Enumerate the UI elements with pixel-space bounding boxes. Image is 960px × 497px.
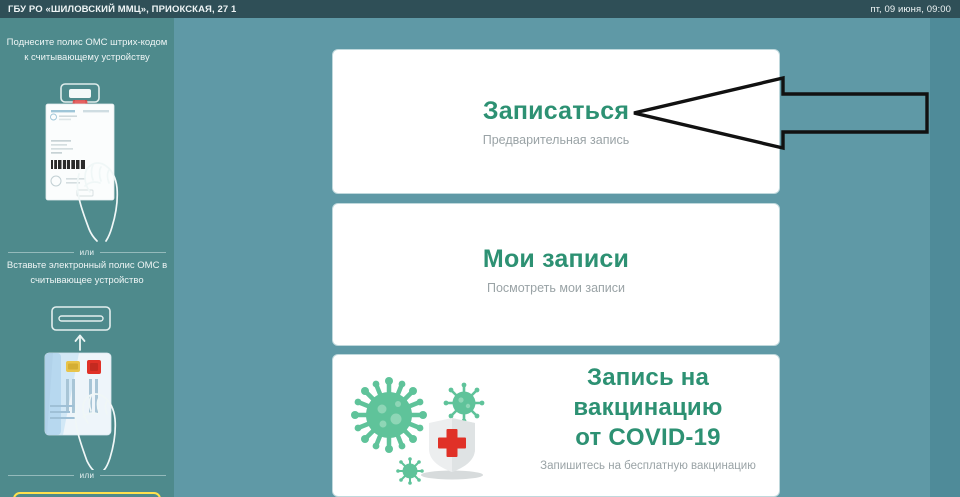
card-covid-vaccination[interactable]: Запись на вакцинацию от COVID-19 Запишит… <box>332 354 780 497</box>
kiosk-screen: ГБУ РО «ШИЛОВСКИЙ ММЦ», ПРИОКСКАЯ, 27 1 … <box>0 0 960 497</box>
insert-instruction-label: Вставьте электронный полис ОМС в считыва… <box>6 258 168 288</box>
card-reader-slot-icon <box>52 307 110 330</box>
divider-line-left <box>8 475 74 476</box>
card-my-records[interactable]: Мои записи Посмотреть мои записи <box>332 203 780 346</box>
scan-instruction-label: Поднесите полис ОМС штрих-кодом к считыв… <box>6 35 168 65</box>
enter-data-button[interactable]: Введите данные <box>13 492 161 497</box>
coronavirus-icon <box>396 457 424 485</box>
divider-or-2: или <box>8 471 166 480</box>
divider-or-1: или <box>8 248 166 257</box>
covid-title-block: Запись на вакцинацию от COVID-19 Запишит… <box>523 363 773 472</box>
covid-title-line-3: от COVID-19 <box>523 423 773 453</box>
or-label-1: или <box>80 248 95 257</box>
datetime-label: пт, 09 июня, 09:00 <box>870 4 951 15</box>
card-appointment-subtitle: Предварительная запись <box>333 133 779 147</box>
card-my-records-title: Мои записи <box>333 245 779 274</box>
arrow-up-icon <box>76 336 85 351</box>
shield-with-red-cross-icon <box>421 418 483 480</box>
card-my-records-subtitle: Посмотреть мои записи <box>333 281 779 295</box>
card-appointment[interactable]: Записаться Предварительная запись <box>332 49 780 194</box>
divider-line-right <box>100 252 166 253</box>
sidebar: Поднесите полис ОМС штрих-кодом к считыв… <box>0 18 174 497</box>
covid-title-line-1: Запись на <box>523 363 773 393</box>
or-label-2: или <box>80 471 95 480</box>
divider-line-left <box>8 252 74 253</box>
oms-smart-card-icon <box>45 353 111 435</box>
insert-card-illustration <box>33 305 143 475</box>
covid-title-line-2: вакцинацию <box>523 393 773 423</box>
covid-subtitle: Запишитесь на бесплатную вакцинацию <box>523 460 773 472</box>
barcode-scanner-icon <box>61 84 99 102</box>
card-appointment-title: Записаться <box>333 97 779 126</box>
right-edge-strip <box>930 18 960 497</box>
coronavirus-icon <box>444 383 485 424</box>
scan-policy-illustration <box>33 82 143 247</box>
clinic-name-label: ГБУ РО «ШИЛОВСКИЙ ММЦ», ПРИОКСКАЯ, 27 1 <box>8 4 236 15</box>
coronavirus-icon <box>351 377 427 453</box>
barcode-icon <box>51 160 85 169</box>
oms-policy-paper-icon <box>46 104 114 200</box>
divider-line-right <box>100 475 166 476</box>
covid-illustration <box>345 363 520 491</box>
top-bar: ГБУ РО «ШИЛОВСКИЙ ММЦ», ПРИОКСКАЯ, 27 1 … <box>0 0 960 18</box>
